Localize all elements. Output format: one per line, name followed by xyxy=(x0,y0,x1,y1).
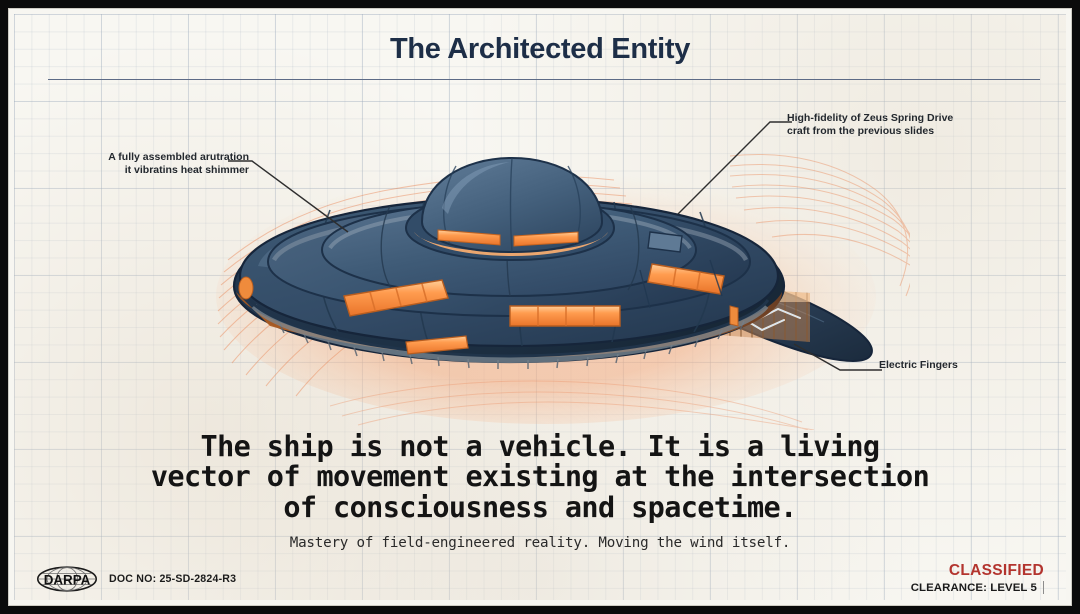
quote-line-1: The ship is not a vehicle. It is a livin… xyxy=(14,432,1066,462)
document-number: DOC NO: 25-SD-2824-R3 xyxy=(109,573,236,585)
classification-badge: CLASSIFIED xyxy=(911,562,1044,580)
annotation-electric-fingers: Electric Fingers xyxy=(879,359,1009,372)
page-title: The Architected Entity xyxy=(14,33,1066,66)
leader-line-fingers xyxy=(792,342,884,376)
quote-line-2: vector of movement existing at the inter… xyxy=(14,462,1066,492)
annotation-assembly-line2: it vibratins heat shimmer xyxy=(64,164,249,177)
annotation-fidelity-line2: craft from the previous slides xyxy=(787,125,1002,138)
darpa-globe-oval-icon: DARPA xyxy=(36,566,98,592)
annotation-assembly: A fully assembled arutration it vibratin… xyxy=(64,151,249,178)
quote-line-3: of consciousness and spacetime. xyxy=(14,493,1066,523)
graph-paper-background: The Architected Entity xyxy=(14,14,1066,600)
footer-left: DARPA DOC NO: 25-SD-2824-R3 xyxy=(36,566,236,592)
title-divider xyxy=(48,79,1040,80)
annotation-electric-fingers-line1: Electric Fingers xyxy=(879,359,1009,372)
annotation-assembly-line1: A fully assembled arutration xyxy=(64,151,249,164)
darpa-logo-text: DARPA xyxy=(44,572,91,587)
slide-page: The Architected Entity xyxy=(8,8,1072,606)
quote-subtitle: Mastery of field-engineered reality. Mov… xyxy=(14,535,1066,551)
annotation-fidelity-line1: High-fidelity of Zeus Spring Drive xyxy=(787,112,1002,125)
slide-canvas: The Architected Entity xyxy=(0,0,1080,614)
clearance-level: CLEARANCE: LEVEL 5 xyxy=(911,582,1037,594)
quote-block: The ship is not a vehicle. It is a livin… xyxy=(14,432,1066,523)
annotation-fidelity: High-fidelity of Zeus Spring Drive craft… xyxy=(787,112,1002,139)
clearance-row: CLEARANCE: LEVEL 5 xyxy=(911,581,1044,594)
footer-right: CLASSIFIED CLEARANCE: LEVEL 5 xyxy=(911,562,1044,594)
leader-line-fidelity xyxy=(674,118,794,218)
clearance-tick-divider xyxy=(1043,581,1044,594)
